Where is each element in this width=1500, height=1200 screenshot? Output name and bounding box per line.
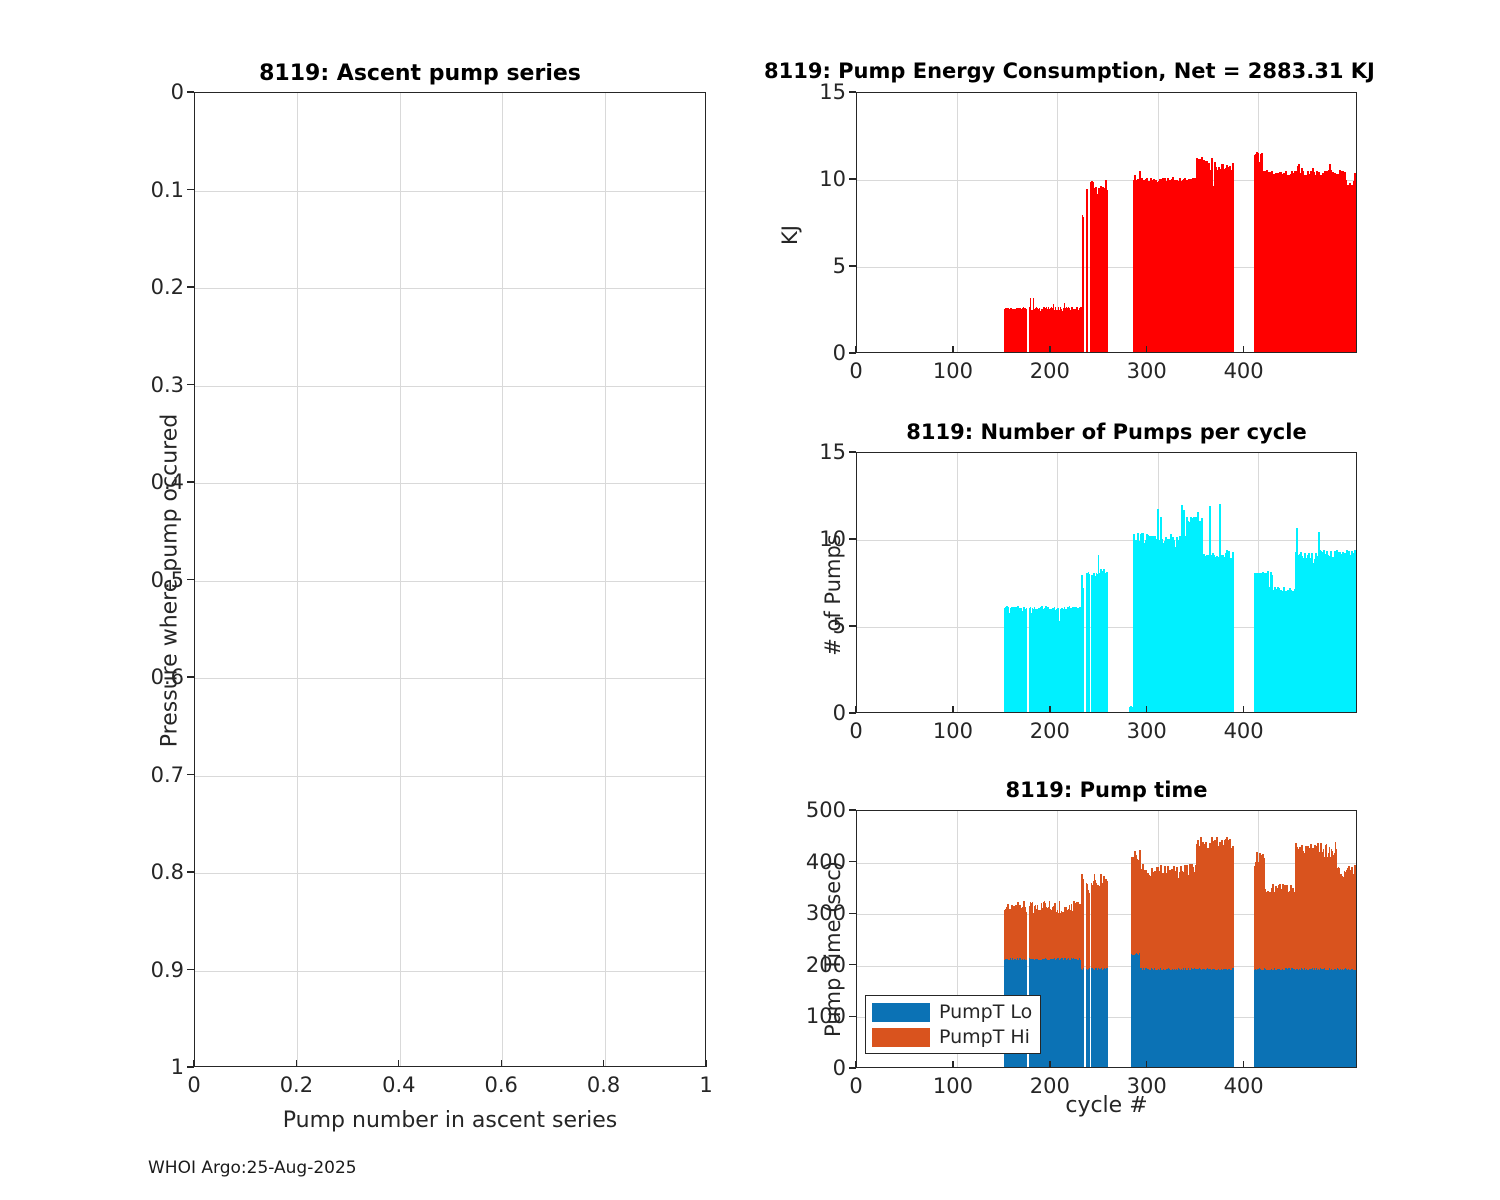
gridline-vertical xyxy=(502,93,503,1066)
x-tick-mark xyxy=(1049,1061,1050,1068)
x-tick-mark xyxy=(855,1061,856,1068)
energy-y-axis-label: KJ xyxy=(778,135,802,335)
figure-footer: WHOI Argo:25-Aug-2025 xyxy=(148,1158,357,1178)
x-tick-mark xyxy=(1146,706,1147,713)
x-tick-label: 300 xyxy=(1107,719,1187,743)
pumptime-x-axis-label: cycle # xyxy=(856,1093,1357,1118)
gridline-horizontal xyxy=(857,540,1356,541)
gridline-vertical xyxy=(605,93,606,1066)
bar xyxy=(1232,163,1234,352)
gridline-horizontal xyxy=(195,386,705,387)
x-tick-label: 0 xyxy=(816,359,896,383)
bar xyxy=(1083,217,1085,352)
y-tick-label: 0.1 xyxy=(79,178,184,202)
x-tick-label: 100 xyxy=(913,359,993,383)
legend-swatch-pumpt-lo xyxy=(872,1003,930,1022)
ascent-plot-area xyxy=(194,92,706,1067)
x-tick-mark xyxy=(952,706,953,713)
y-tick-mark xyxy=(849,451,856,452)
x-tick-mark xyxy=(398,1060,399,1067)
bar xyxy=(1087,189,1089,352)
y-tick-mark xyxy=(849,91,856,92)
x-tick-label: 300 xyxy=(1107,359,1187,383)
pump-time-panel: 8119: Pump time 0100200300400500 0100200… xyxy=(740,765,1440,1135)
x-tick-mark xyxy=(296,1060,297,1067)
x-tick-mark xyxy=(855,706,856,713)
bar xyxy=(1232,552,1234,712)
y-tick-label: 0 xyxy=(79,80,184,104)
gridline-vertical xyxy=(400,93,401,1066)
bar-pumpt-lo xyxy=(1106,968,1108,1067)
y-tick-mark xyxy=(849,809,856,810)
legend-label-pumpt-hi: PumpT Hi xyxy=(939,1026,1030,1048)
gridline-horizontal xyxy=(195,873,705,874)
bar-pumpt-hi xyxy=(1356,877,1357,1067)
y-tick-mark xyxy=(187,384,194,385)
ascent-x-axis-label: Pump number in ascent series xyxy=(194,1108,706,1133)
energy-plot-title: 8119: Pump Energy Consumption, Net = 288… xyxy=(740,59,1500,83)
legend-label-pumpt-lo: PumpT Lo xyxy=(939,1001,1032,1023)
pumps-plot-area xyxy=(856,452,1357,713)
y-tick-mark xyxy=(849,964,856,965)
x-tick-label: 1 xyxy=(666,1073,746,1097)
pump-count-panel: 8119: Number of Pumps per cycle 051015 0… xyxy=(740,410,1440,740)
gridline-horizontal xyxy=(857,863,1356,864)
y-tick-mark xyxy=(187,774,194,775)
gridline-horizontal xyxy=(195,581,705,582)
x-tick-label: 400 xyxy=(1204,359,1284,383)
gridline-horizontal xyxy=(195,483,705,484)
y-tick-mark xyxy=(849,265,856,266)
matlab-figure: 8119: Ascent pump series 00.10.20.30.40.… xyxy=(0,0,1500,1200)
gridline-vertical xyxy=(957,93,958,352)
gridline-horizontal xyxy=(195,678,705,679)
x-tick-mark xyxy=(705,1060,706,1067)
x-tick-label: 0.8 xyxy=(564,1073,644,1097)
x-tick-label: 0 xyxy=(154,1073,234,1097)
y-tick-label: 0.9 xyxy=(79,958,184,982)
x-tick-mark xyxy=(1146,346,1147,353)
y-tick-mark xyxy=(187,579,194,580)
x-tick-mark xyxy=(952,1061,953,1068)
y-tick-mark xyxy=(187,676,194,677)
y-tick-mark xyxy=(187,189,194,190)
x-tick-label: 100 xyxy=(913,719,993,743)
energy-plot-area xyxy=(856,92,1357,353)
bar xyxy=(1106,572,1108,712)
y-tick-mark xyxy=(187,871,194,872)
y-tick-mark xyxy=(849,625,856,626)
x-tick-mark xyxy=(1049,346,1050,353)
ascent-y-axis-label: Pressure where pump occured xyxy=(158,281,183,881)
y-tick-mark xyxy=(187,481,194,482)
y-tick-mark xyxy=(187,969,194,970)
x-tick-mark xyxy=(1049,706,1050,713)
bar-pumpt-lo xyxy=(1232,968,1234,1067)
x-tick-mark xyxy=(1243,346,1244,353)
x-tick-mark xyxy=(501,1060,502,1067)
x-tick-mark xyxy=(603,1060,604,1067)
x-tick-label: 400 xyxy=(1204,719,1284,743)
y-tick-mark xyxy=(187,286,194,287)
y-tick-mark xyxy=(849,913,856,914)
pumps-y-axis-label: # of Pumps xyxy=(821,455,845,735)
y-tick-label: 15 xyxy=(741,80,846,104)
ascent-plot-title: 8119: Ascent pump series xyxy=(100,61,740,86)
legend-swatch-pumpt-hi xyxy=(872,1028,930,1047)
bar-pumpt-lo xyxy=(1356,969,1357,1067)
gridline-horizontal xyxy=(195,191,705,192)
pumps-plot-title: 8119: Number of Pumps per cycle xyxy=(856,420,1357,444)
x-tick-label: 200 xyxy=(1010,719,1090,743)
x-tick-label: 0.6 xyxy=(461,1073,541,1097)
x-tick-label: 0.2 xyxy=(256,1073,336,1097)
bar xyxy=(1356,184,1357,352)
ascent-pump-series-panel: 8119: Ascent pump series 00.10.20.30.40.… xyxy=(100,55,740,1105)
x-tick-mark xyxy=(1146,1061,1147,1068)
y-tick-mark xyxy=(849,1016,856,1017)
pumptime-y-axis-label: Pump Time (sec) xyxy=(821,779,845,1119)
gridline-horizontal xyxy=(195,776,705,777)
bar xyxy=(1356,558,1357,712)
y-tick-mark xyxy=(849,861,856,862)
pumptime-legend[interactable]: PumpT Lo PumpT Hi xyxy=(865,995,1041,1054)
gridline-vertical xyxy=(957,453,958,712)
x-tick-label: 200 xyxy=(1010,359,1090,383)
bar xyxy=(1083,588,1085,712)
legend-item-pumpt-hi[interactable]: PumpT Hi xyxy=(872,1026,1032,1048)
legend-item-pumpt-lo[interactable]: PumpT Lo xyxy=(872,1001,1032,1023)
x-tick-mark xyxy=(1243,706,1244,713)
x-tick-mark xyxy=(1243,1061,1244,1068)
gridline-horizontal xyxy=(195,288,705,289)
gridline-vertical xyxy=(297,93,298,1066)
x-tick-mark xyxy=(855,346,856,353)
bar xyxy=(1026,608,1028,712)
x-tick-mark xyxy=(952,346,953,353)
x-tick-mark xyxy=(193,1060,194,1067)
pump-energy-panel: 8119: Pump Energy Consumption, Net = 288… xyxy=(740,55,1440,385)
y-tick-mark xyxy=(187,91,194,92)
y-tick-mark xyxy=(849,178,856,179)
gridline-horizontal xyxy=(195,971,705,972)
bar xyxy=(1106,190,1108,352)
x-tick-label: 0.4 xyxy=(359,1073,439,1097)
bar-pumpt-lo xyxy=(1083,968,1085,1067)
y-tick-mark xyxy=(849,538,856,539)
bar xyxy=(1026,309,1028,352)
pumptime-plot-title: 8119: Pump time xyxy=(856,778,1357,802)
